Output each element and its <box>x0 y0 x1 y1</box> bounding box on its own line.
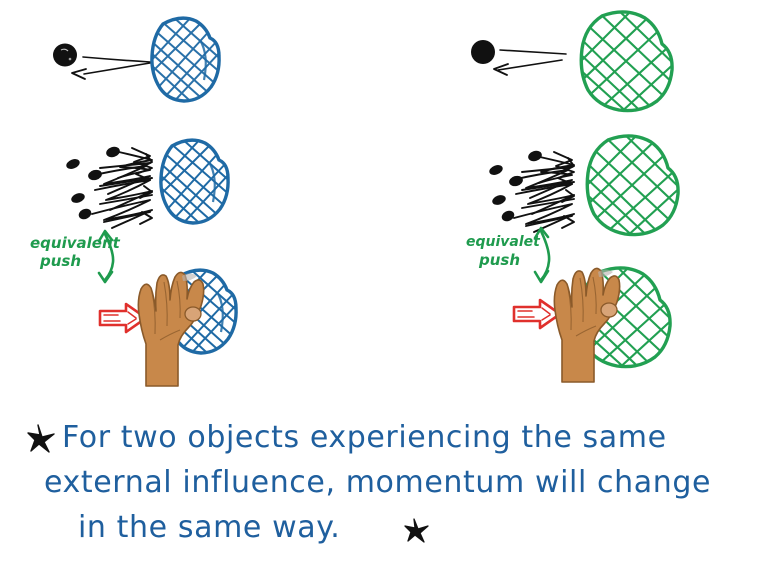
sketch-text-layer: equivalent push equivalet push For two o… <box>0 0 778 584</box>
left-equivalent-label: equivalent <box>30 234 121 252</box>
left-push-label: push <box>39 252 81 270</box>
caption-line-1: For two objects experiencing the same <box>62 420 667 455</box>
whiteboard-canvas: equivalent push equivalet push For two o… <box>0 0 778 584</box>
right-equivalent-label: equivalet <box>466 234 541 250</box>
right-push-label: push <box>478 251 520 269</box>
caption-line-2: external influence, momentum will change <box>44 465 711 500</box>
caption-line-3: in the same way. <box>78 510 340 545</box>
